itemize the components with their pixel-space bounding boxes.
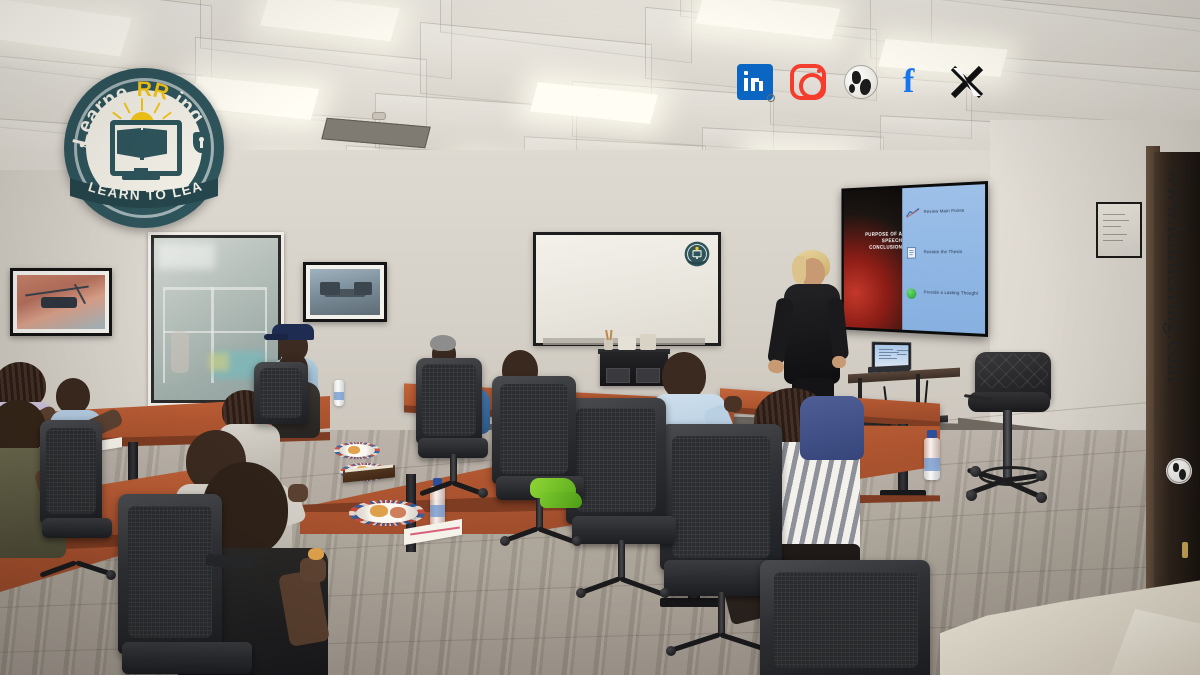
presenter-hair-side (792, 256, 806, 284)
chair-caster (666, 646, 676, 656)
presenter-hand-right (832, 356, 846, 368)
framed-helicopter-photo (10, 268, 112, 336)
book-icon-left (117, 128, 141, 158)
chair-post (718, 592, 725, 636)
globe-icon (1166, 458, 1192, 484)
supply-bin (640, 334, 656, 350)
stool-caster (1036, 470, 1047, 481)
chair-caster (576, 588, 586, 598)
chair-seat[interactable] (122, 642, 252, 674)
whiteboard (533, 232, 721, 346)
slide-content-panel: Review Main Points Restate the Thesis Pr… (903, 184, 986, 334)
chart-line-icon (906, 207, 920, 218)
slide-bullet-3: Provide a Lasting Thought (924, 290, 978, 296)
classroom-photo: PURPOSE OF A SPEECH CONCLUSION Review Ma… (0, 0, 1200, 675)
book-icon-right (143, 128, 167, 158)
student-head (662, 352, 706, 400)
food-in-hand (308, 548, 324, 560)
linkedin-icon[interactable] (735, 62, 775, 102)
shield-icon (193, 132, 210, 153)
chair-caster (500, 536, 510, 546)
logo-banner: LEARN TO LEAD (68, 174, 220, 218)
framed-certificate (1096, 202, 1142, 258)
book-spine (140, 130, 144, 160)
water-bottle (334, 380, 344, 406)
chair-mesh (46, 428, 96, 514)
food-item (348, 446, 360, 454)
stool-caster (1036, 492, 1047, 503)
chair-seat[interactable] (42, 518, 112, 538)
slide-title-panel: PURPOSE OF A SPEECH CONCLUSION (844, 188, 903, 329)
document-icon (907, 247, 917, 259)
water-bottle (924, 438, 940, 480)
globe-icon[interactable] (841, 62, 881, 102)
learnerring-logo: Learne RR ing (64, 68, 224, 228)
website-url-watermark: www.learnerring.com (1158, 168, 1194, 468)
chair-post (450, 454, 457, 484)
network-node-icon (78, 134, 100, 156)
instagram-icon[interactable] (788, 62, 828, 102)
credenza-cabinet[interactable] (600, 352, 668, 386)
drafting-stool-seat[interactable] (968, 392, 1050, 412)
presentation-tv: PURPOSE OF A SPEECH CONCLUSION Review Ma… (841, 181, 988, 337)
facebook-icon[interactable]: f (894, 62, 934, 102)
student-hair (430, 335, 456, 351)
slide-title: PURPOSE OF A SPEECH CONCLUSION (849, 232, 903, 252)
url-text: www.learnerring.com (1161, 168, 1188, 383)
chair-mesh (260, 368, 302, 418)
student-hand (300, 558, 326, 582)
green-dot-icon (907, 288, 917, 299)
chair-post (618, 540, 625, 580)
slide-bullet-1: Review Main Points (924, 208, 965, 214)
chair-mesh (672, 436, 770, 558)
x-twitter-icon[interactable] (947, 62, 987, 102)
framed-osprey-aircraft-photo (303, 262, 387, 322)
student-hand (724, 396, 742, 412)
stool-caster (966, 490, 977, 501)
learnerring-logo-sticker (684, 241, 710, 267)
student-head (56, 378, 90, 414)
chair-caster (106, 570, 116, 580)
chair-caster (660, 588, 670, 598)
chair-mesh (576, 408, 656, 512)
chair-mesh (128, 506, 212, 638)
stool-quilting (978, 354, 1048, 388)
bottle-cap (927, 430, 937, 438)
food-item (390, 507, 406, 518)
slide-bullet-2: Restate the Thesis (924, 249, 962, 254)
cap-brim (264, 334, 288, 340)
green-sneakers (540, 492, 582, 508)
social-icons-bar: f (735, 58, 991, 106)
table-foot (660, 598, 724, 607)
chair-caster (572, 536, 582, 546)
student-torso (800, 396, 864, 460)
tissue-box (618, 336, 636, 350)
stool-caster (970, 466, 981, 477)
door-handle[interactable] (1182, 542, 1188, 558)
smoke-detector (372, 112, 386, 120)
student-hand (288, 484, 308, 502)
chair-mesh (500, 384, 568, 474)
chair-mesh (422, 364, 476, 436)
chair-caster (478, 488, 488, 498)
chair-mesh (774, 572, 918, 668)
food-item (370, 505, 388, 517)
